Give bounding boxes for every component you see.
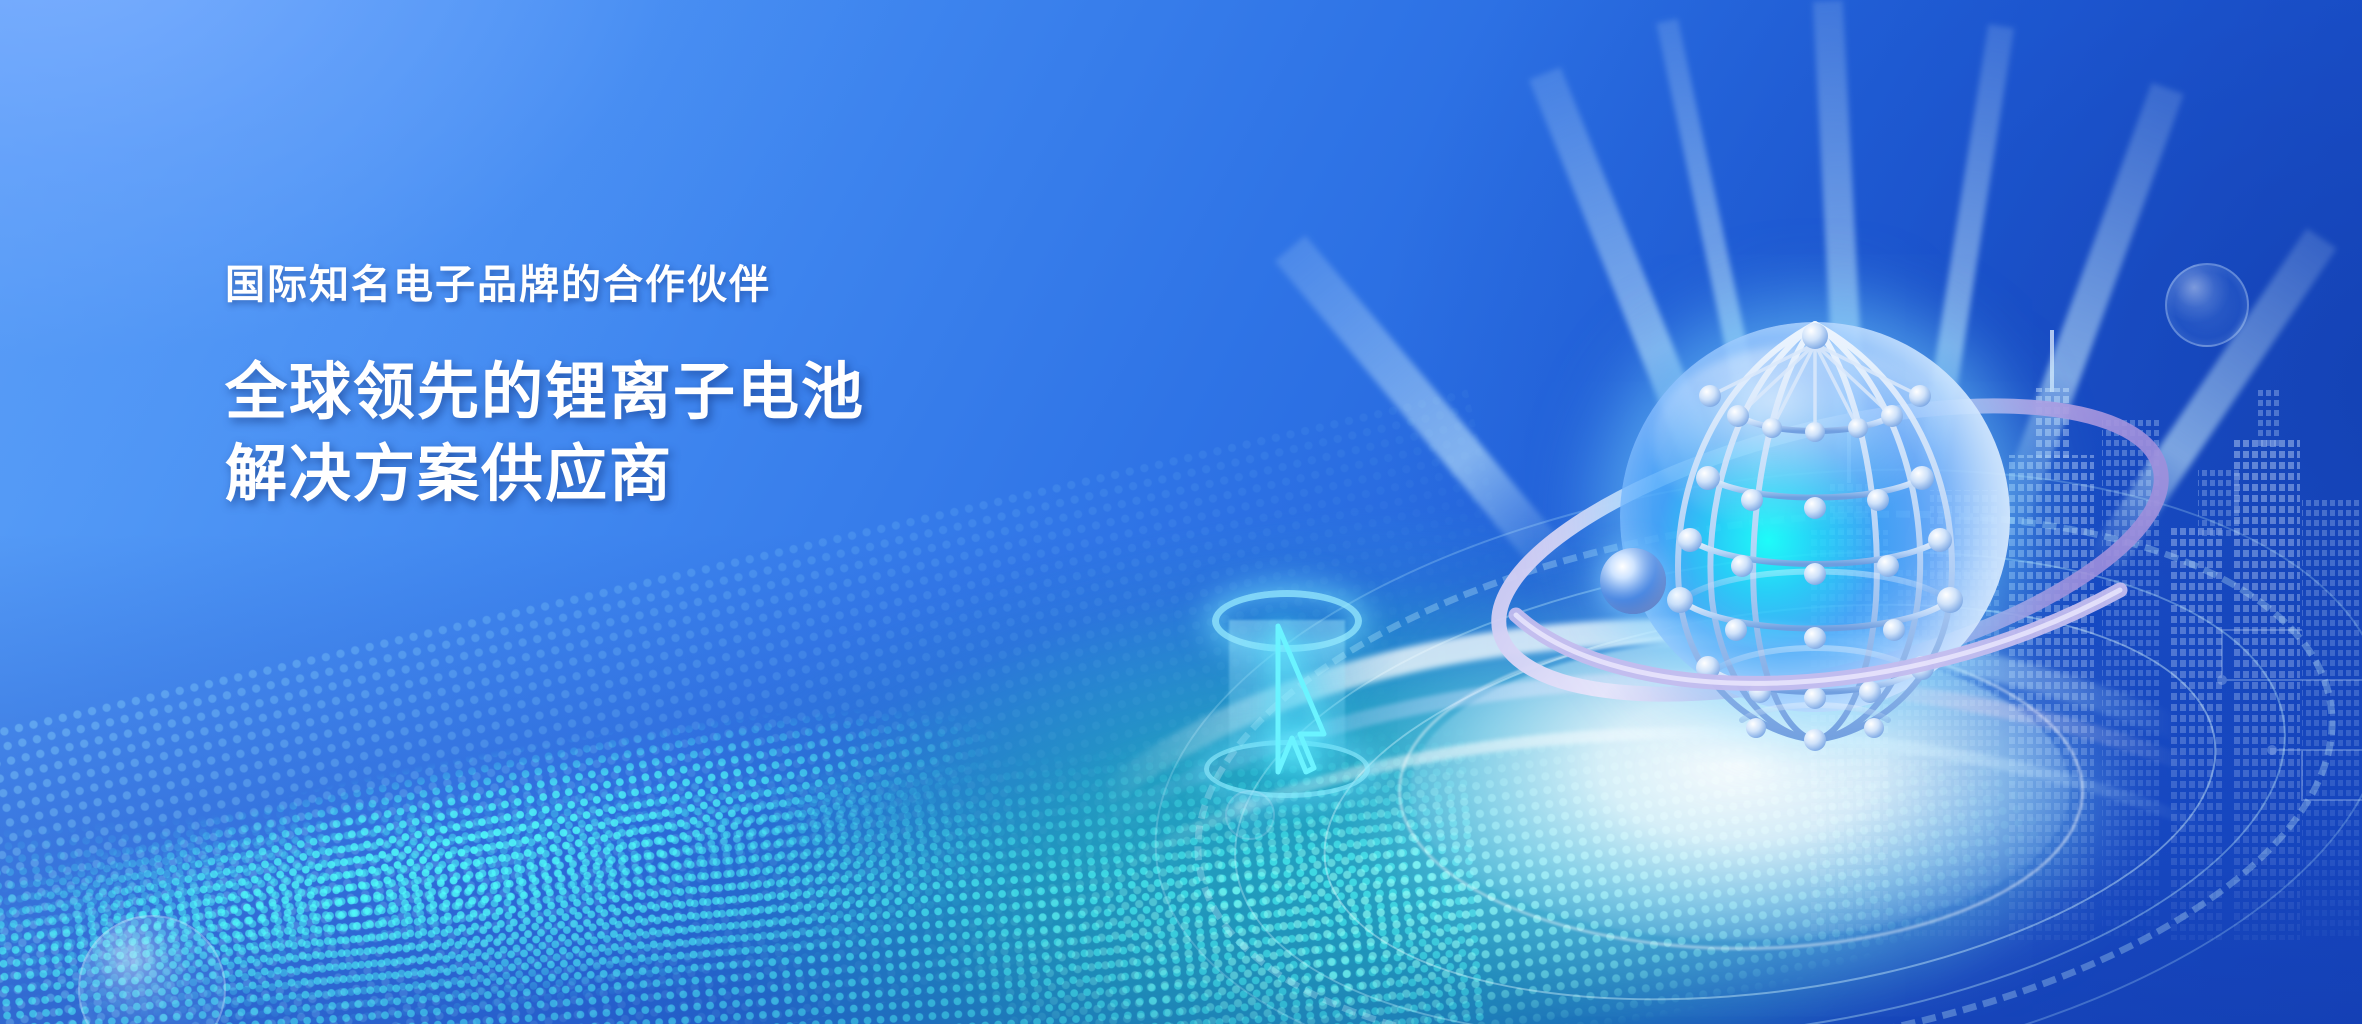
page-title: 全球领先的锂离子电池 解决方案供应商 xyxy=(225,352,1125,516)
hero-banner: 国际知名电子品牌的合作伙伴 全球领先的锂离子电池 解决方案供应商 xyxy=(0,0,2362,1024)
orbital-bead xyxy=(1600,548,1666,614)
translucent-bubble-icon xyxy=(2165,263,2249,347)
glowing-arrow-cursor-icon xyxy=(1248,622,1344,782)
headline-line-1: 全球领先的锂离子电池 xyxy=(225,352,1125,434)
globe-wireframe xyxy=(1560,300,2080,780)
banner-eyebrow: 国际知名电子品牌的合作伙伴 xyxy=(225,262,1125,308)
translucent-bubble-icon xyxy=(78,915,226,1024)
translucent-bubble-icon xyxy=(1225,790,1275,840)
banner-copy: 国际知名电子品牌的合作伙伴 全球领先的锂离子电池 解决方案供应商 xyxy=(225,262,1125,516)
wireframe-globe-icon xyxy=(1560,300,2080,780)
headline-line-2: 解决方案供应商 xyxy=(225,434,1125,516)
